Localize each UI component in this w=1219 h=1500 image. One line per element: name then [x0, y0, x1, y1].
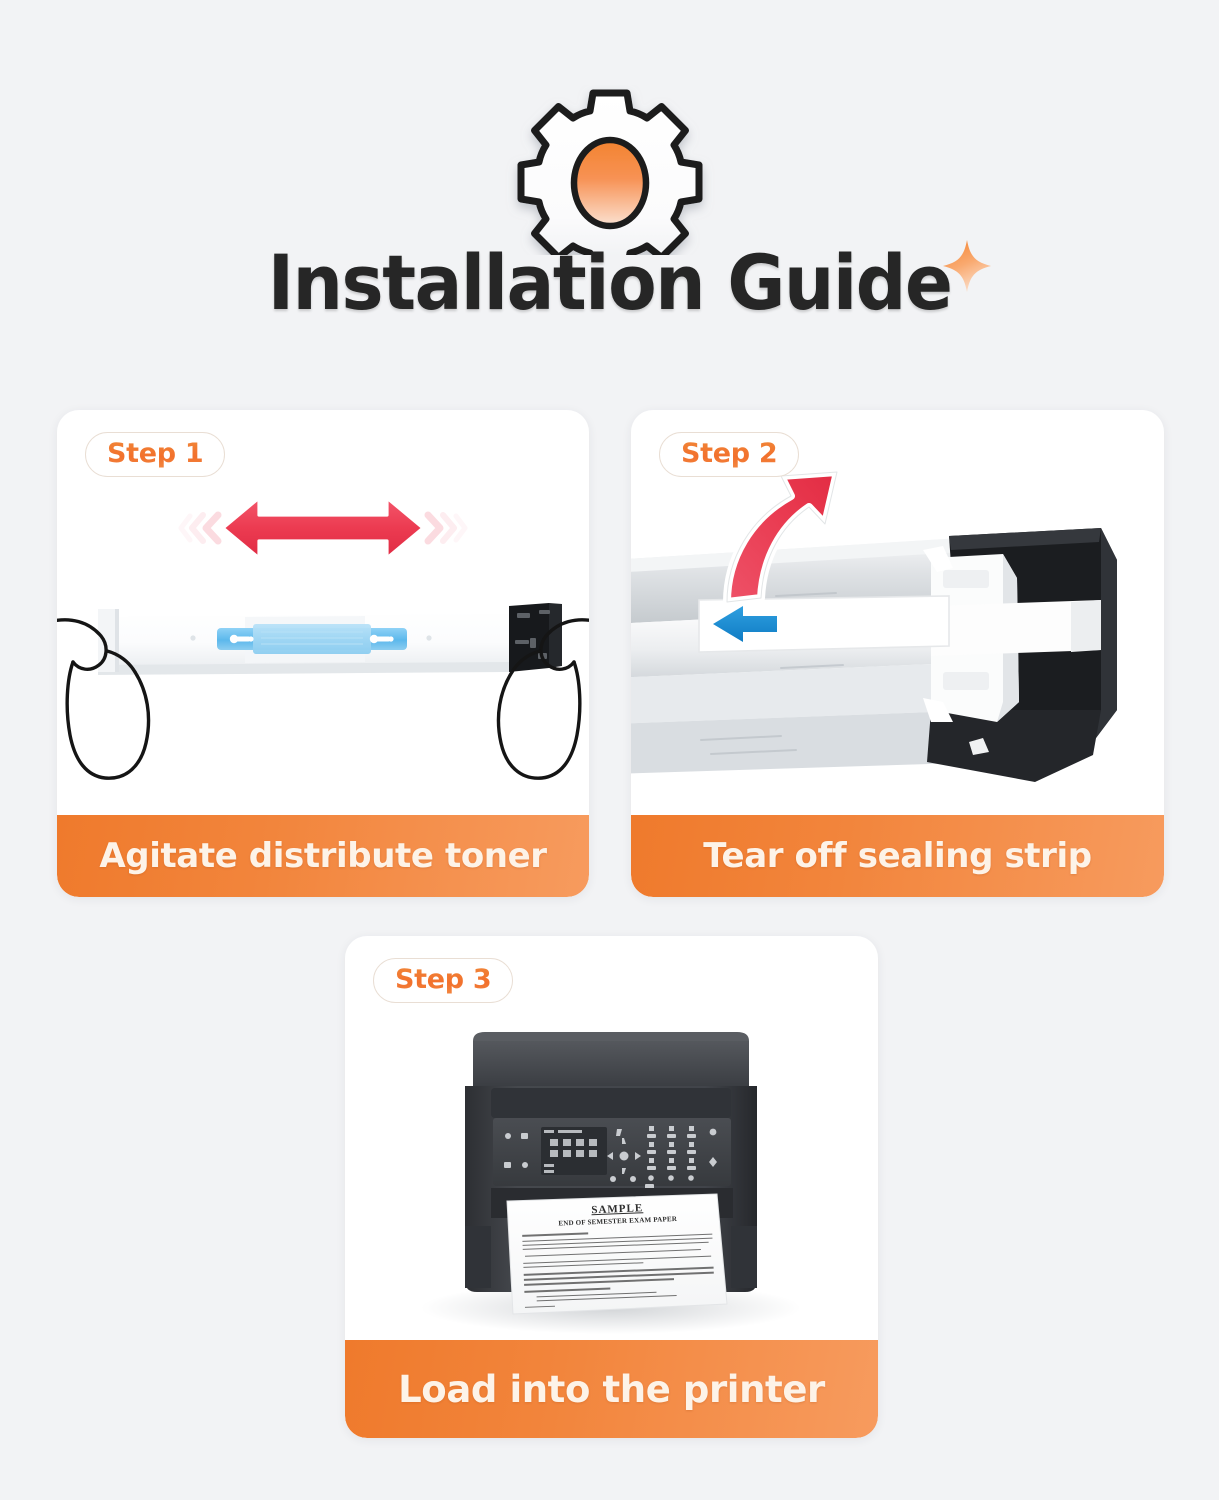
paper-body-lines — [520, 1225, 719, 1306]
step-caption-band-2: Tear off sealing strip — [631, 815, 1164, 897]
cartridge-end-cap — [923, 528, 1117, 782]
page-title-row: Installation Guide — [0, 245, 1219, 321]
step-caption-1: Agitate distribute toner — [99, 836, 546, 876]
step-badge-3: Step 3 — [373, 958, 513, 1003]
step-caption-3: Load into the printer — [398, 1368, 825, 1411]
step-card-2: Step 2 Tear off sealing strip — [631, 410, 1164, 897]
double-headed-arrow-icon — [223, 498, 423, 558]
paper-content: SAMPLE END OF SEMESTER EXAM PAPER — [519, 1196, 719, 1307]
step-badge-1: Step 1 — [85, 432, 225, 477]
sparkle-icon — [941, 238, 993, 294]
step-badge-2: Step 2 — [659, 432, 799, 477]
motion-lines-right — [428, 515, 465, 541]
step-caption-band-3: Load into the printer — [345, 1340, 878, 1438]
toner-cartridge — [98, 603, 562, 675]
step-card-1: Step 1 Agitate distribute toner — [57, 410, 589, 897]
header: Installation Guide — [0, 0, 1219, 380]
step-caption-band-1: Agitate distribute toner — [57, 815, 589, 897]
gear-icon — [490, 85, 730, 255]
step-caption-2: Tear off sealing strip — [703, 836, 1091, 876]
step-card-3: SAMPLE END OF SEMESTER EXAM PAPER Step 3 — [345, 936, 878, 1438]
motion-lines-left — [181, 515, 218, 541]
page-title: Installation Guide — [268, 245, 952, 321]
